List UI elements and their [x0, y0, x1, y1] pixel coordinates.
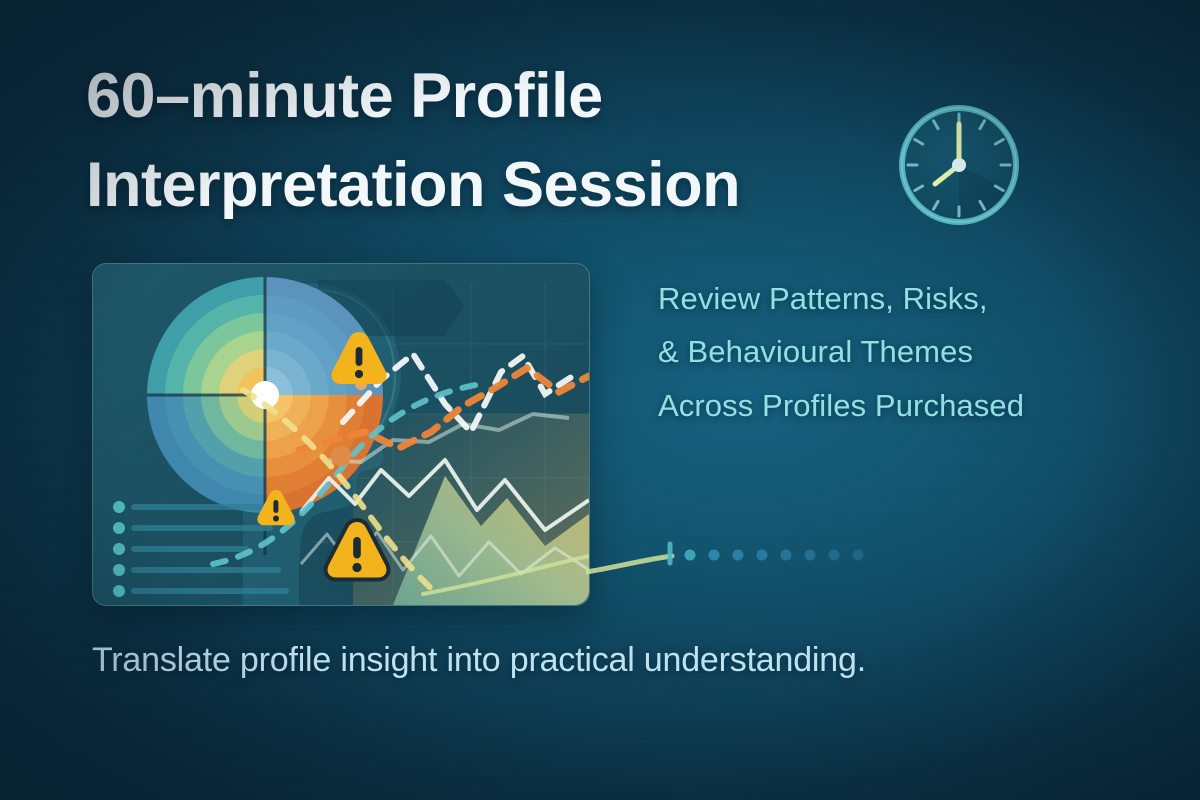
page-title: 60–minute Profile Interpretation Session: [86, 52, 866, 231]
tagline-text: Translate profile insight into practical…: [92, 641, 1112, 680]
orange-node: [331, 446, 351, 466]
headline-text: Review Patterns, Risks, & Behavioural Th…: [658, 272, 1128, 432]
clock-icon: [892, 98, 1026, 232]
poster-canvas: 60–minute Profile Interpretation Session: [0, 0, 1200, 800]
profile-analytics-illustration: [92, 263, 590, 606]
dot-trail: [586, 538, 886, 584]
